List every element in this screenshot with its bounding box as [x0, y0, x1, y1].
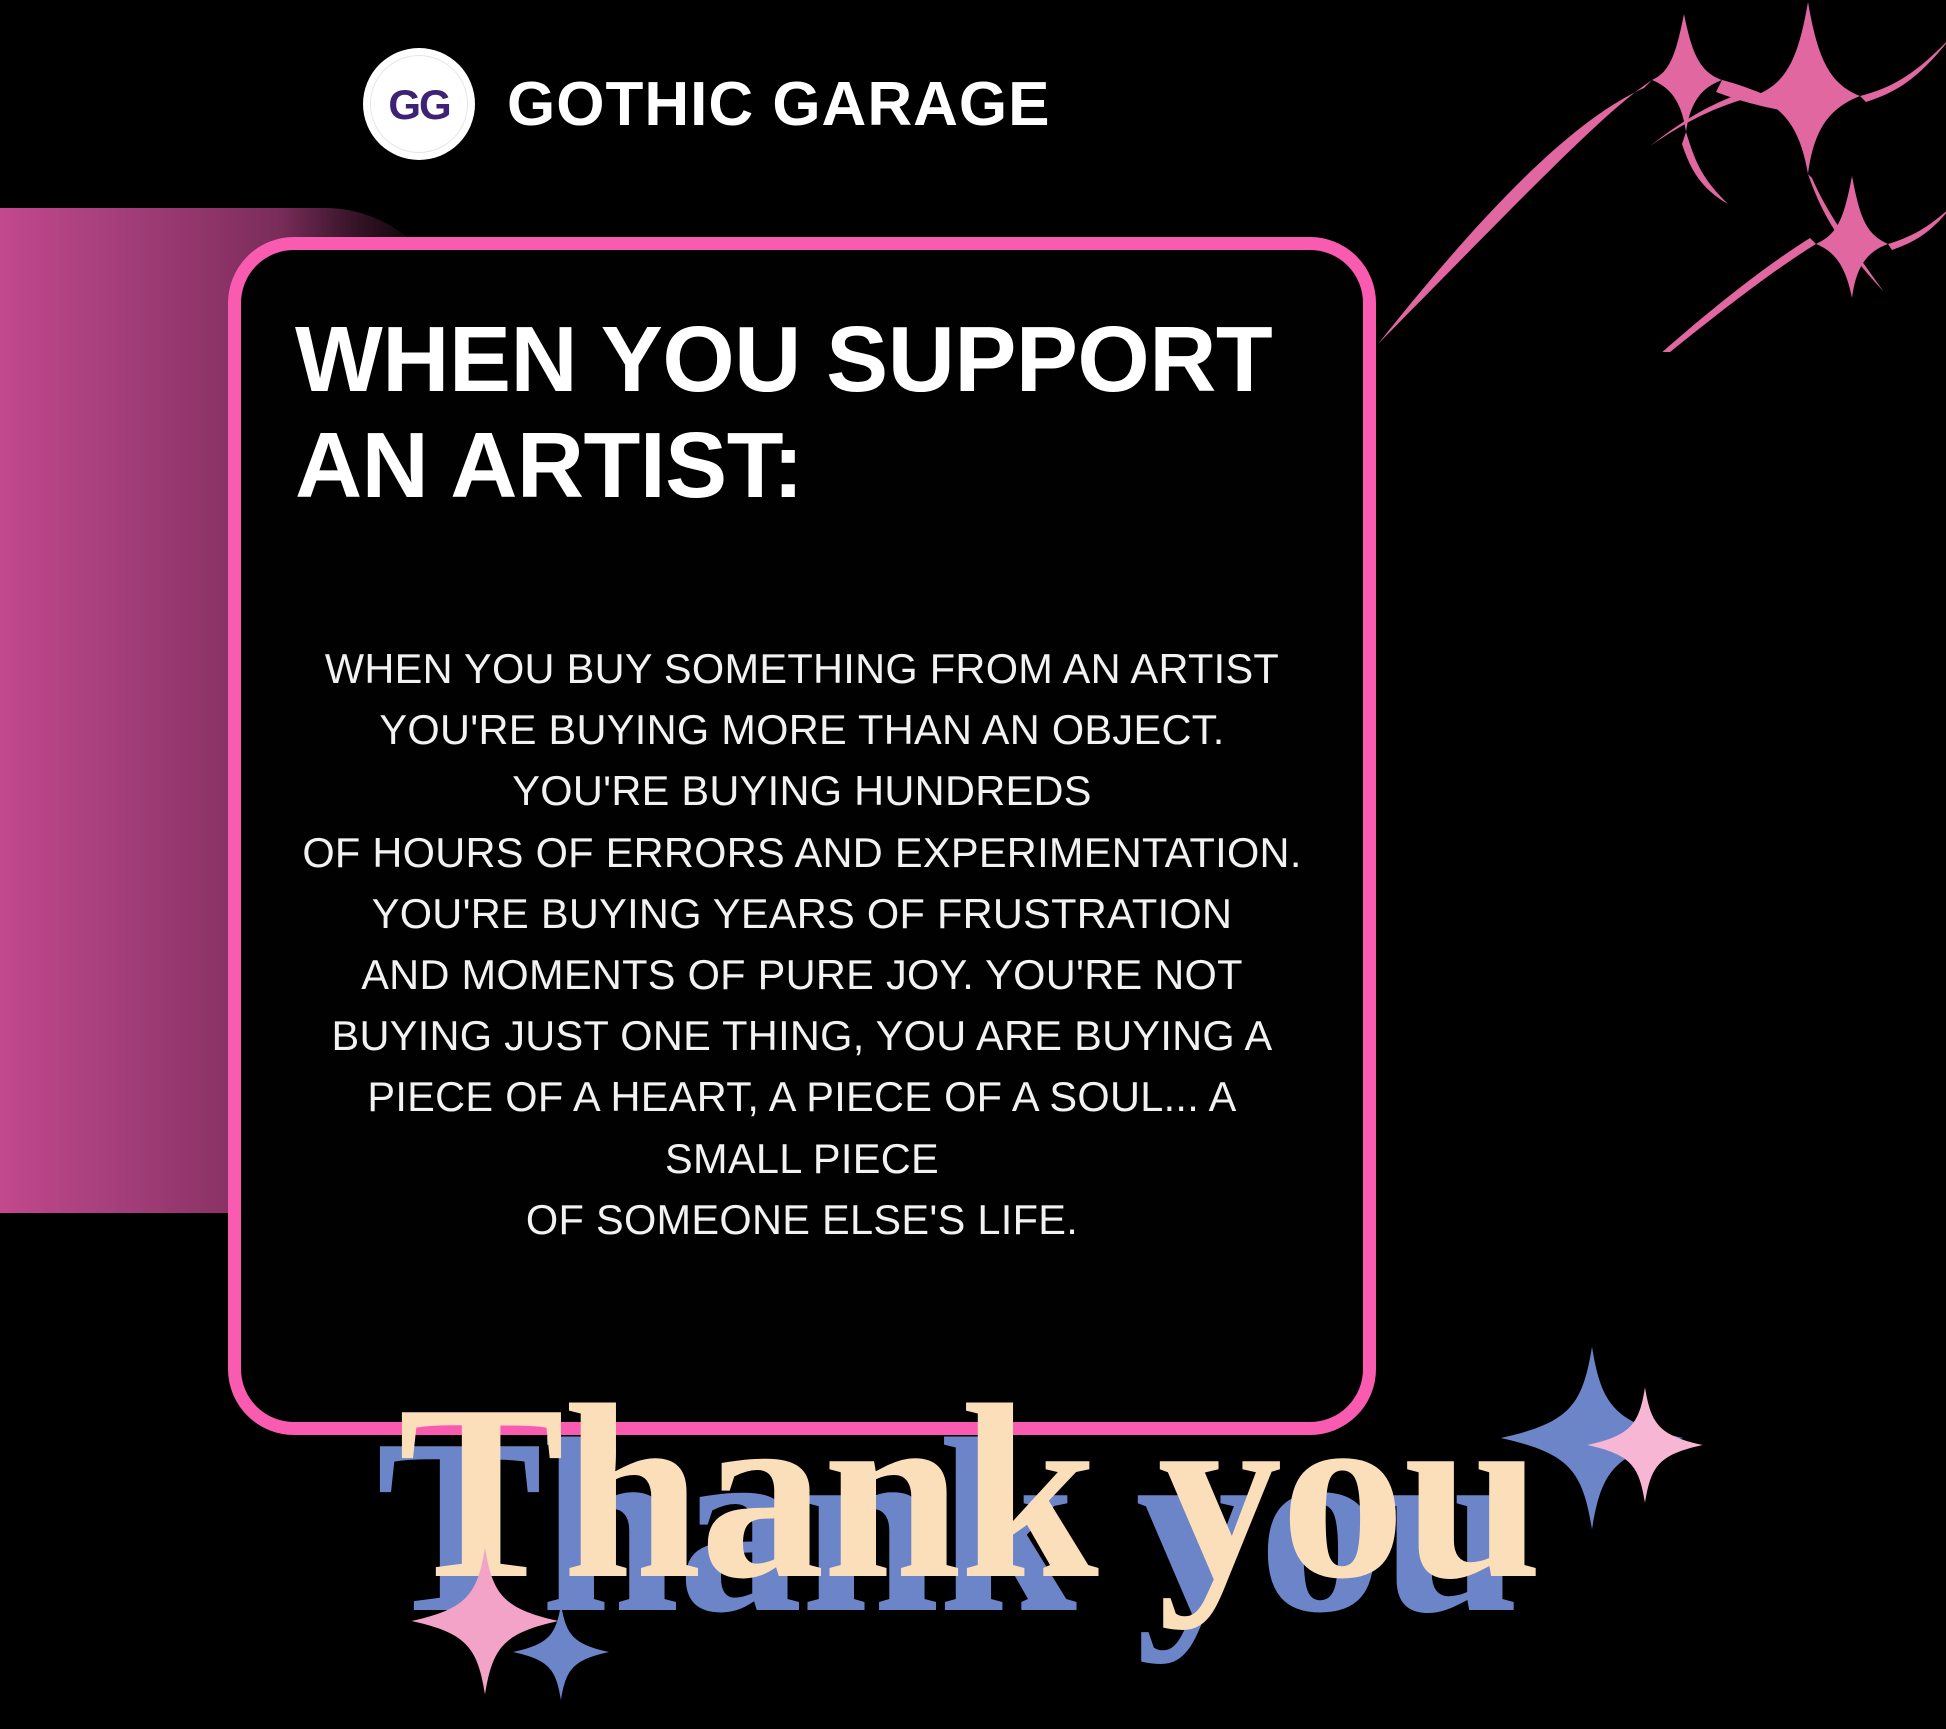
sparkle-blue-bottom-left — [512, 1603, 610, 1706]
gg-monogram-logo-icon: GG — [363, 48, 475, 160]
message-card: WHEN YOU SUPPORT AN ARTIST: WHEN YOU BUY… — [228, 237, 1376, 1435]
sparkle-lightpink-right — [1585, 1385, 1705, 1510]
sparkle-blue-right — [1497, 1343, 1687, 1538]
four-point-star-sparkle-icon — [512, 1603, 610, 1701]
message-card-content: WHEN YOU SUPPORT AN ARTIST: WHEN YOU BUY… — [241, 250, 1363, 1422]
brand-header: GG GOTHIC GARAGE — [363, 48, 1050, 160]
four-point-star-sparkle-icon — [1585, 1385, 1705, 1505]
body-copy: WHEN YOU BUY SOMETHING FROM AN ARTIST YO… — [295, 638, 1309, 1250]
poster-canvas: GG GOTHIC GARAGE WHEN YOU SUPPORT AN ART… — [0, 0, 1946, 1729]
thank-you-shadow-layer: Thank you — [376, 1402, 1518, 1652]
four-point-star-sparkle-icon — [1497, 1343, 1687, 1533]
sparkle-pink-bottom-left — [410, 1546, 560, 1701]
headline: WHEN YOU SUPPORT AN ARTIST: — [295, 306, 1309, 518]
brand-monogram-text: GG — [388, 81, 449, 129]
brand-name: GOTHIC GARAGE — [507, 69, 1050, 140]
four-point-star-sparkle-icon — [410, 1546, 560, 1696]
